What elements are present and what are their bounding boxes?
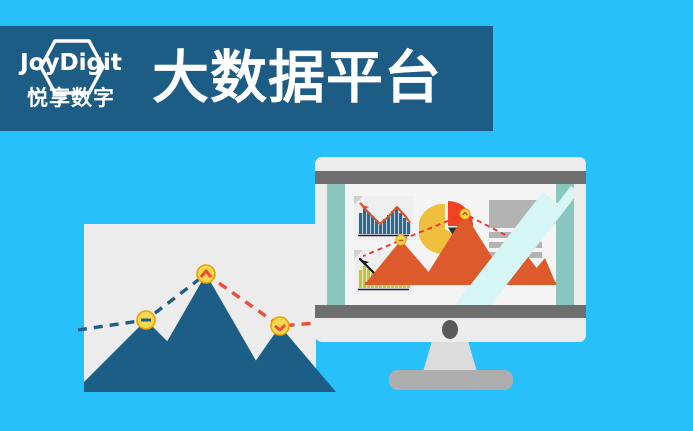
monitor-stand-base xyxy=(389,370,513,390)
poster-canvas: JoyDigit 悦享数字 大数据平台 xyxy=(0,0,693,431)
screen-left-strip xyxy=(327,184,345,305)
monitor-screen[interactable] xyxy=(327,184,574,305)
orange-mountain-chart xyxy=(363,184,556,305)
page-fold-corner xyxy=(354,196,363,205)
blue-mountain-panel-chart xyxy=(84,224,354,394)
power-indicator-icon[interactable] xyxy=(442,320,458,339)
brand-logo[interactable]: JoyDigit 悦享数字 xyxy=(12,35,130,123)
page-title: 大数据平台 xyxy=(152,50,442,107)
brand-wordmark: JoyDigit xyxy=(20,52,122,75)
dashboard-content xyxy=(345,184,556,305)
mountain-peaks xyxy=(74,274,336,392)
monitor-bottom-bezel xyxy=(315,305,586,318)
page-fold-corner xyxy=(354,250,363,259)
monitor-stand-neck xyxy=(423,342,477,372)
mountain-peaks xyxy=(365,214,556,285)
header-banner: JoyDigit 悦享数字 大数据平台 xyxy=(0,26,493,131)
brand-subtitle: 悦享数字 xyxy=(27,88,115,109)
desktop-monitor[interactable] xyxy=(315,157,586,342)
screen-right-strip xyxy=(556,184,574,305)
monitor-top-bezel xyxy=(315,171,586,184)
